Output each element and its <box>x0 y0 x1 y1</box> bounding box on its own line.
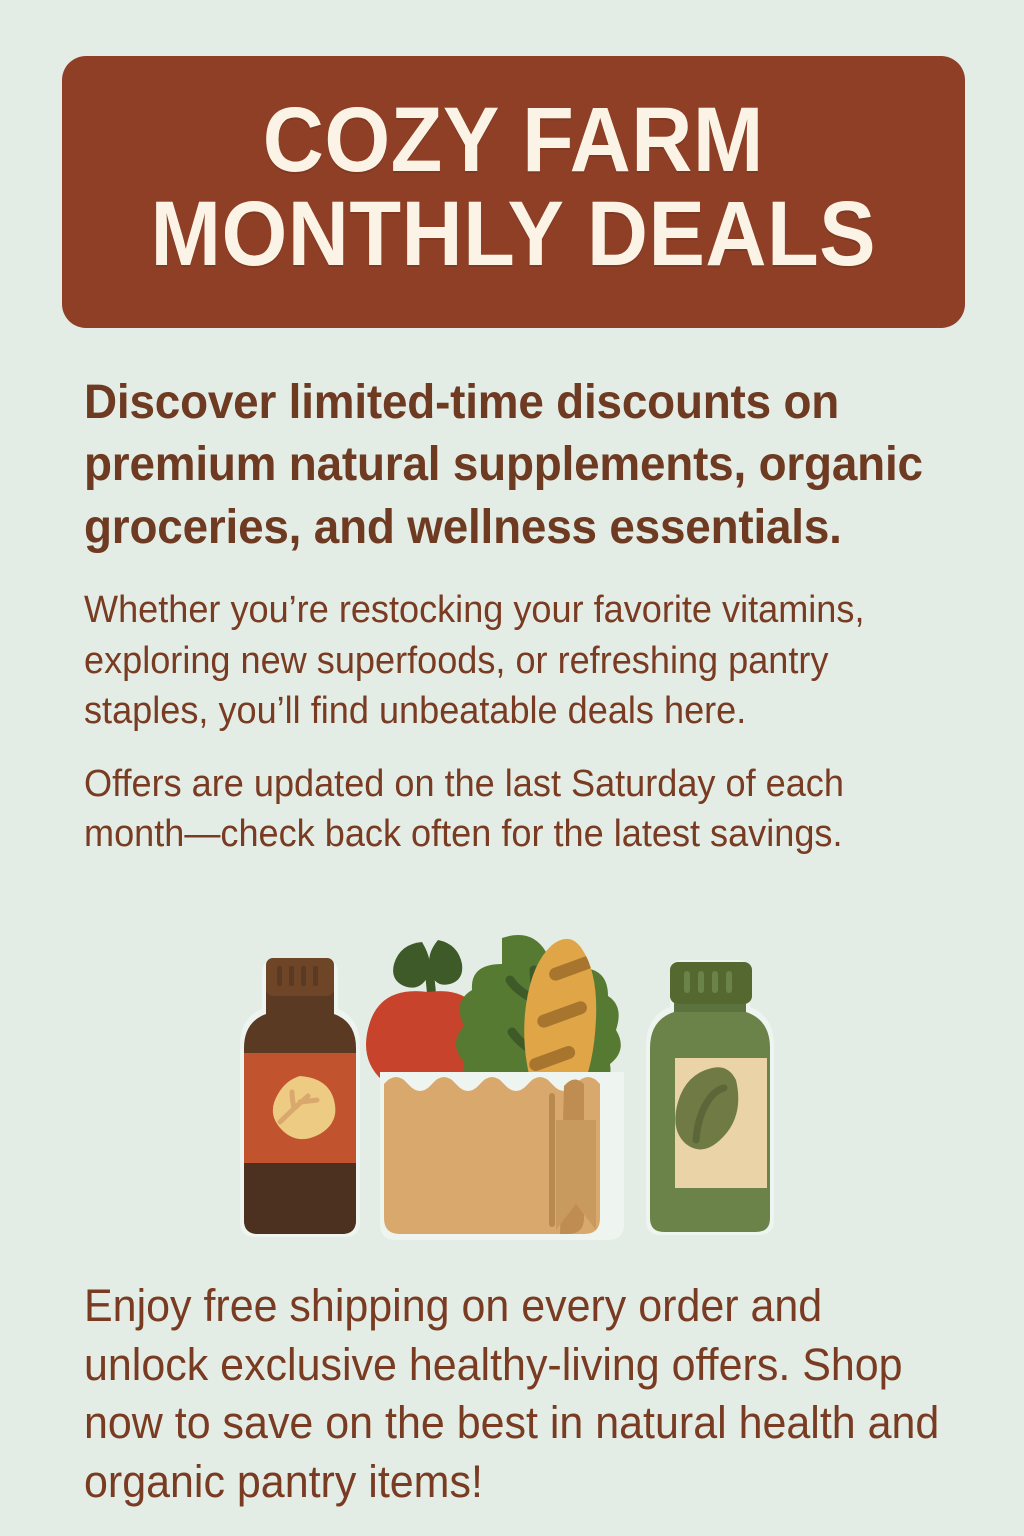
bottle-brown-cap <box>266 958 334 996</box>
lead-paragraph: Discover limited-time discounts on premi… <box>84 372 924 559</box>
header-banner: COZY FARM MONTHLY DEALS <box>62 56 965 328</box>
body-paragraph-1: Whether you’re restocking your favorite … <box>84 585 920 737</box>
poster-root: COZY FARM MONTHLY DEALS Discover limited… <box>0 0 1024 1536</box>
bottle-brown-base <box>232 1163 372 1243</box>
supplement-bottle-green <box>646 960 774 1235</box>
bottle-green-cap-body <box>670 962 752 1004</box>
poster-title-line-1: COZY FARM <box>263 94 764 188</box>
bottle-green-cap <box>670 962 752 1004</box>
closing-paragraph: Enjoy free shipping on every order and u… <box>84 1277 944 1511</box>
body-paragraph-2: Offers are updated on the last Saturday … <box>84 759 920 860</box>
grocery-and-supplements-illustration <box>232 930 792 1255</box>
supplement-bottle-brown <box>232 958 372 1243</box>
grocery-bag <box>380 1072 624 1240</box>
poster-title-line-2: MONTHLY DEALS <box>151 188 877 282</box>
bottle-brown-cap-body <box>266 958 334 996</box>
bottle-green-neck-shade <box>672 1004 750 1012</box>
content-block: Discover limited-time discounts on premi… <box>84 372 964 882</box>
